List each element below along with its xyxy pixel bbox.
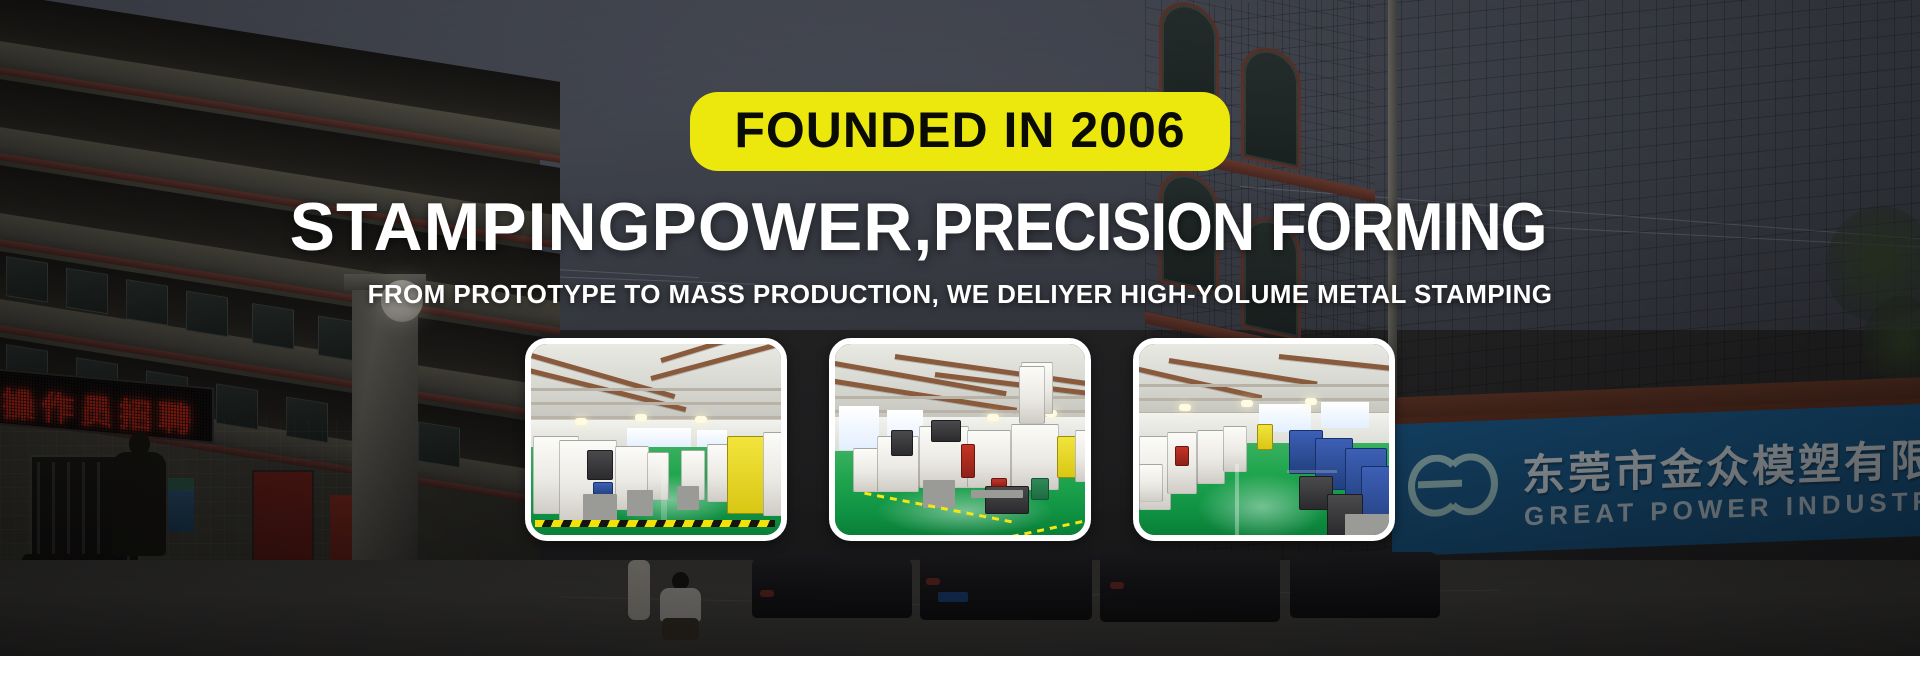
globe-lamp xyxy=(381,280,423,322)
gp-logo-icon xyxy=(1408,446,1512,526)
hero-banner: 操作员招聘 xyxy=(0,0,1920,676)
standing-person xyxy=(628,560,650,620)
parked-car xyxy=(1290,552,1440,618)
thumbnail-vertical-machining-center-row[interactable] xyxy=(829,338,1091,541)
company-signboard: 东莞市金众模塑有限公司 GREAT POWER INDUSTRIES LIMIT… xyxy=(1392,404,1920,557)
thumbnail-gallery xyxy=(525,338,1395,541)
parked-car xyxy=(1100,550,1280,622)
background-photo: 操作员招聘 xyxy=(0,0,1920,656)
parked-car xyxy=(752,556,912,618)
squatting-person-legs xyxy=(662,618,699,640)
bottom-white-strip xyxy=(0,656,1920,676)
wall-notice-blue xyxy=(168,490,194,532)
thumbnail-cnc-machining-workshop-aisle[interactable] xyxy=(525,338,787,541)
parked-car xyxy=(920,548,1092,620)
squatting-person-body xyxy=(660,588,701,622)
thumbnail-injection-molding-production-line[interactable] xyxy=(1133,338,1395,541)
